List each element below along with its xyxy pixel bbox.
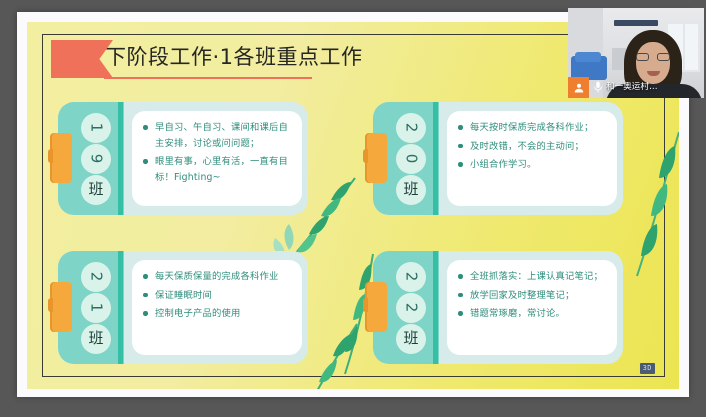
- clip-icon: [52, 282, 72, 332]
- class-label-column: 1 9 班: [74, 108, 118, 209]
- participant-video-tile[interactable]: 和一奥运村…: [568, 8, 704, 98]
- class-suffix-badge: 班: [81, 175, 111, 205]
- list-item: 及时改错，不会的主动问；: [457, 139, 609, 155]
- list-item: 放学回家及时整理笔记；: [457, 288, 609, 304]
- class-digit-badge: 1: [81, 113, 111, 143]
- list-item: 眼里有事，心里有活，一直有目标！Fighting~: [142, 154, 294, 185]
- class-digit-badge: 1: [81, 293, 111, 323]
- card-content-panel: 全班抓落实：上课认真记笔记； 放学回家及时整理笔记； 错题常琢磨，常讨论。: [447, 260, 617, 355]
- watermark-badge: 3D: [640, 363, 655, 374]
- class-digit-badge: 2: [81, 262, 111, 292]
- class-label-column: 2 2 班: [389, 257, 433, 358]
- bullet-list: 每天保质保量的完成各科作业 保证睡眠时间 控制电子产品的使用: [142, 269, 294, 322]
- class-suffix-badge: 班: [396, 175, 426, 205]
- card-side-edge: [433, 251, 438, 364]
- bullet-list: 早自习、午自习、课间和课后自主安排，讨论或问问题； 眼里有事，心里有活，一直有目…: [142, 120, 294, 185]
- video-sofa-back: [575, 52, 601, 62]
- list-item: 控制电子产品的使用: [142, 306, 294, 322]
- microphone-icon[interactable]: [589, 81, 606, 94]
- clip-icon: [367, 133, 387, 183]
- card-side-edge: [118, 251, 123, 364]
- class-card[interactable]: 2 2 班 全班抓落实：上课认真记笔记； 放学回家及时整理笔记； 错题常琢磨，常…: [367, 251, 623, 364]
- video-person-glasses: [636, 53, 670, 61]
- class-digit-badge: 2: [396, 262, 426, 292]
- leaf-decoration-bottom-left: [299, 322, 369, 389]
- clip-icon: [52, 133, 72, 183]
- list-item: 保证睡眠时间: [142, 288, 294, 304]
- video-info-bar: 和一奥运村…: [568, 77, 704, 98]
- class-suffix-badge: 班: [81, 324, 111, 354]
- card-side-edge: [433, 102, 438, 215]
- class-suffix-badge: 班: [396, 324, 426, 354]
- list-item: 每天保质保量的完成各科作业: [142, 269, 294, 285]
- card-content-panel: 早自习、午自习、课间和课后自主安排，讨论或问问题； 眼里有事，心里有活，一直有目…: [132, 111, 302, 206]
- card-side-edge: [118, 102, 123, 215]
- class-label-column: 2 0 班: [389, 108, 433, 209]
- screen: 下阶段工作·1各班重点工作 1 9 班 早自习、午自习、课间和课后自主安排，讨论…: [0, 0, 706, 417]
- class-digit-badge: 0: [396, 144, 426, 174]
- slide-title-group: 下阶段工作·1各班重点工作: [51, 40, 363, 80]
- list-item: 错题常琢磨，常讨论。: [457, 306, 609, 322]
- leaf-decoration-edge-right: [627, 132, 679, 282]
- class-digit-badge: 2: [396, 113, 426, 143]
- page-title: 下阶段工作·1各班重点工作: [105, 40, 363, 74]
- list-item: 全班抓落实：上课认真记笔记；: [457, 269, 609, 285]
- title-underline: [104, 77, 312, 79]
- class-card[interactable]: 1 9 班 早自习、午自习、课间和课后自主安排，讨论或问问题； 眼里有事，心里有…: [52, 102, 308, 215]
- list-item: 早自习、午自习、课间和课后自主安排，讨论或问问题；: [142, 120, 294, 151]
- class-label-column: 2 1 班: [74, 257, 118, 358]
- avatar: [568, 77, 589, 98]
- list-item: 每天按时保质完成各科作业；: [457, 120, 609, 136]
- bullet-list: 全班抓落实：上课认真记笔记； 放学回家及时整理笔记； 错题常琢磨，常讨论。: [457, 269, 609, 322]
- class-digit-badge: 2: [396, 293, 426, 323]
- class-card[interactable]: 2 1 班 每天保质保量的完成各科作业 保证睡眠时间 控制电子产品的使用: [52, 251, 308, 364]
- clip-icon: [367, 282, 387, 332]
- participant-name: 和一奥运村…: [606, 82, 658, 93]
- bullet-list: 每天按时保质完成各科作业； 及时改错，不会的主动问； 小组合作学习。: [457, 120, 609, 173]
- class-digit-badge: 9: [81, 144, 111, 174]
- card-content-panel: 每天按时保质完成各科作业； 及时改错，不会的主动问； 小组合作学习。: [447, 111, 617, 206]
- class-card[interactable]: 2 0 班 每天按时保质完成各科作业； 及时改错，不会的主动问； 小组合作学习。: [367, 102, 623, 215]
- card-content-panel: 每天保质保量的完成各科作业 保证睡眠时间 控制电子产品的使用: [132, 260, 302, 355]
- video-air-conditioner: [614, 20, 658, 26]
- title-ribbon-icon: [51, 40, 113, 78]
- list-item: 小组合作学习。: [457, 157, 609, 173]
